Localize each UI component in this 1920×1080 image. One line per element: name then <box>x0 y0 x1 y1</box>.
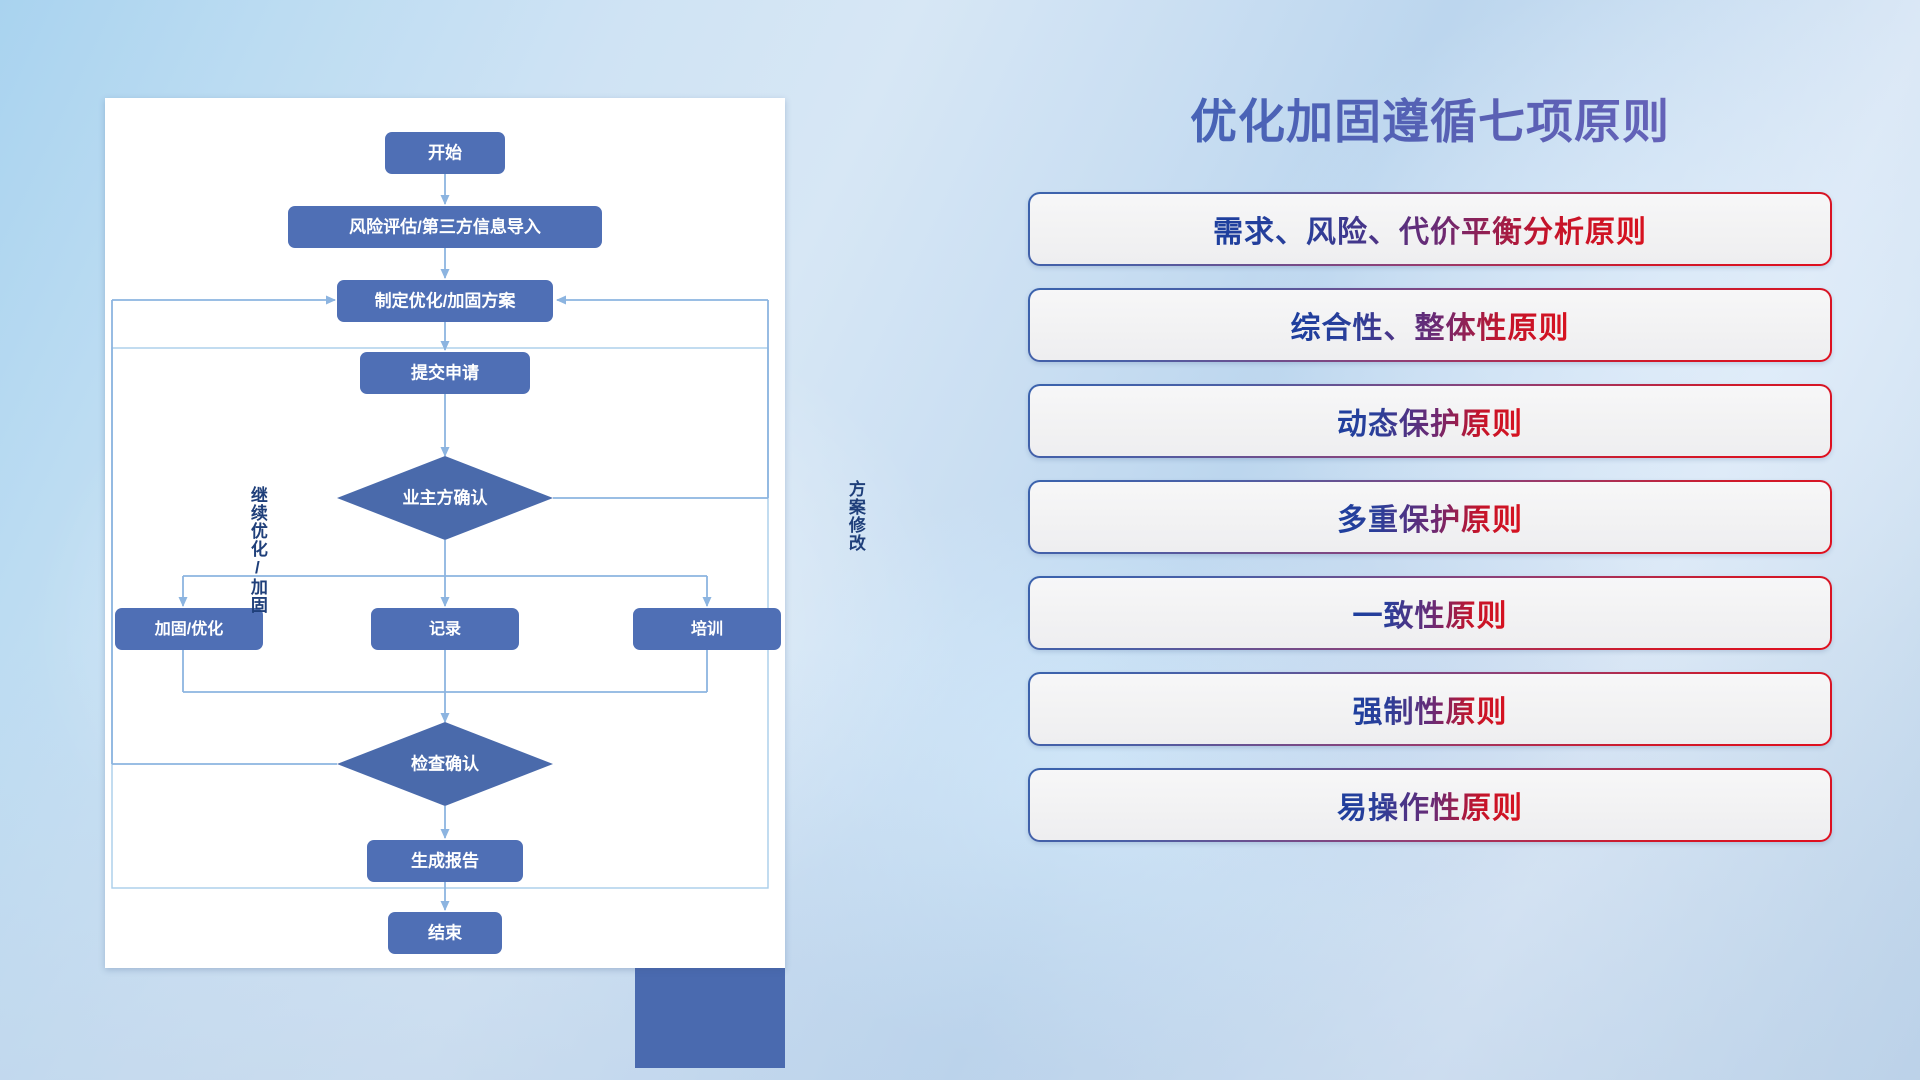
principle-label: 易操作性原则 <box>1337 783 1523 827</box>
principles-panel: 优化加固遵循七项原则 需求、风险、代价平衡分析原则 综合性、整体性原则 动态保护… <box>1010 96 1850 1016</box>
flowchart-panel: 开始 风险评估/第三方信息导入 制定优化/加固方案 <box>105 98 785 968</box>
flow-node-training: 培训 <box>633 608 781 650</box>
principle-label: 一致性原则 <box>1353 591 1508 635</box>
flow-node-plan: 制定优化/加固方案 <box>337 280 553 322</box>
flow-node-end-label: 结束 <box>428 922 462 942</box>
principle-card-inner: 一致性原则 <box>1030 578 1830 648</box>
flowchart-canvas: 开始 风险评估/第三方信息导入 制定优化/加固方案 <box>105 98 785 968</box>
flow-node-reinforce-label: 加固/优化 <box>154 619 223 638</box>
principle-card[interactable]: 一致性原则 <box>1028 576 1832 650</box>
principle-card-inner: 动态保护原则 <box>1030 386 1830 456</box>
flow-node-owner-confirm-label: 业主方确认 <box>403 487 489 507</box>
principles-title: 优化加固遵循七项原则 <box>1010 96 1850 148</box>
flow-node-submit-label: 提交申请 <box>411 362 479 382</box>
principle-label: 强制性原则 <box>1353 687 1508 731</box>
flow-node-check-confirm: 检查确认 <box>337 722 553 806</box>
flow-node-risk-assessment: 风险评估/第三方信息导入 <box>288 206 602 248</box>
flow-node-end: 结束 <box>388 912 502 954</box>
principle-card[interactable]: 易操作性原则 <box>1028 768 1832 842</box>
principle-card[interactable]: 多重保护原则 <box>1028 480 1832 554</box>
principle-card-inner: 综合性、整体性原则 <box>1030 290 1830 360</box>
flow-node-report-label: 生成报告 <box>411 850 479 870</box>
flow-node-training-label: 培训 <box>691 619 723 638</box>
flow-node-owner-confirm: 业主方确认 <box>337 456 553 540</box>
flow-node-start-label: 开始 <box>428 142 462 162</box>
principle-label: 需求、风险、代价平衡分析原则 <box>1213 207 1647 251</box>
principle-card[interactable]: 动态保护原则 <box>1028 384 1832 458</box>
loop-label-left: 继续优化/加固 <box>248 486 266 614</box>
flow-node-risk-assessment-label: 风险评估/第三方信息导入 <box>349 216 541 236</box>
flow-node-reinforce: 加固/优化 <box>115 608 263 650</box>
flowchart-card: 开始 风险评估/第三方信息导入 制定优化/加固方案 <box>105 98 785 968</box>
principle-card-inner: 强制性原则 <box>1030 674 1830 744</box>
principles-list: 需求、风险、代价平衡分析原则 综合性、整体性原则 动态保护原则 多重保护原则 一… <box>1010 192 1850 842</box>
flow-node-plan-label: 制定优化/加固方案 <box>375 290 517 310</box>
flow-node-start: 开始 <box>385 132 505 174</box>
principle-label: 多重保护原则 <box>1337 495 1523 539</box>
principle-label: 动态保护原则 <box>1337 399 1523 443</box>
flow-node-report: 生成报告 <box>367 840 523 882</box>
principle-card-inner: 多重保护原则 <box>1030 482 1830 552</box>
principle-card-inner: 需求、风险、代价平衡分析原则 <box>1030 194 1830 264</box>
principle-card[interactable]: 强制性原则 <box>1028 672 1832 746</box>
flow-node-record-label: 记录 <box>429 620 461 638</box>
flow-nodes: 开始 风险评估/第三方信息导入 制定优化/加固方案 <box>115 132 781 954</box>
principle-card[interactable]: 需求、风险、代价平衡分析原则 <box>1028 192 1832 266</box>
principle-card-inner: 易操作性原则 <box>1030 770 1830 840</box>
principle-label: 综合性、整体性原则 <box>1291 303 1570 347</box>
flow-node-check-confirm-label: 检查确认 <box>411 753 480 773</box>
principle-card[interactable]: 综合性、整体性原则 <box>1028 288 1832 362</box>
flow-node-record: 记录 <box>371 608 519 650</box>
loop-label-right: 方案修改 <box>846 480 864 552</box>
flow-node-submit: 提交申请 <box>360 352 530 394</box>
